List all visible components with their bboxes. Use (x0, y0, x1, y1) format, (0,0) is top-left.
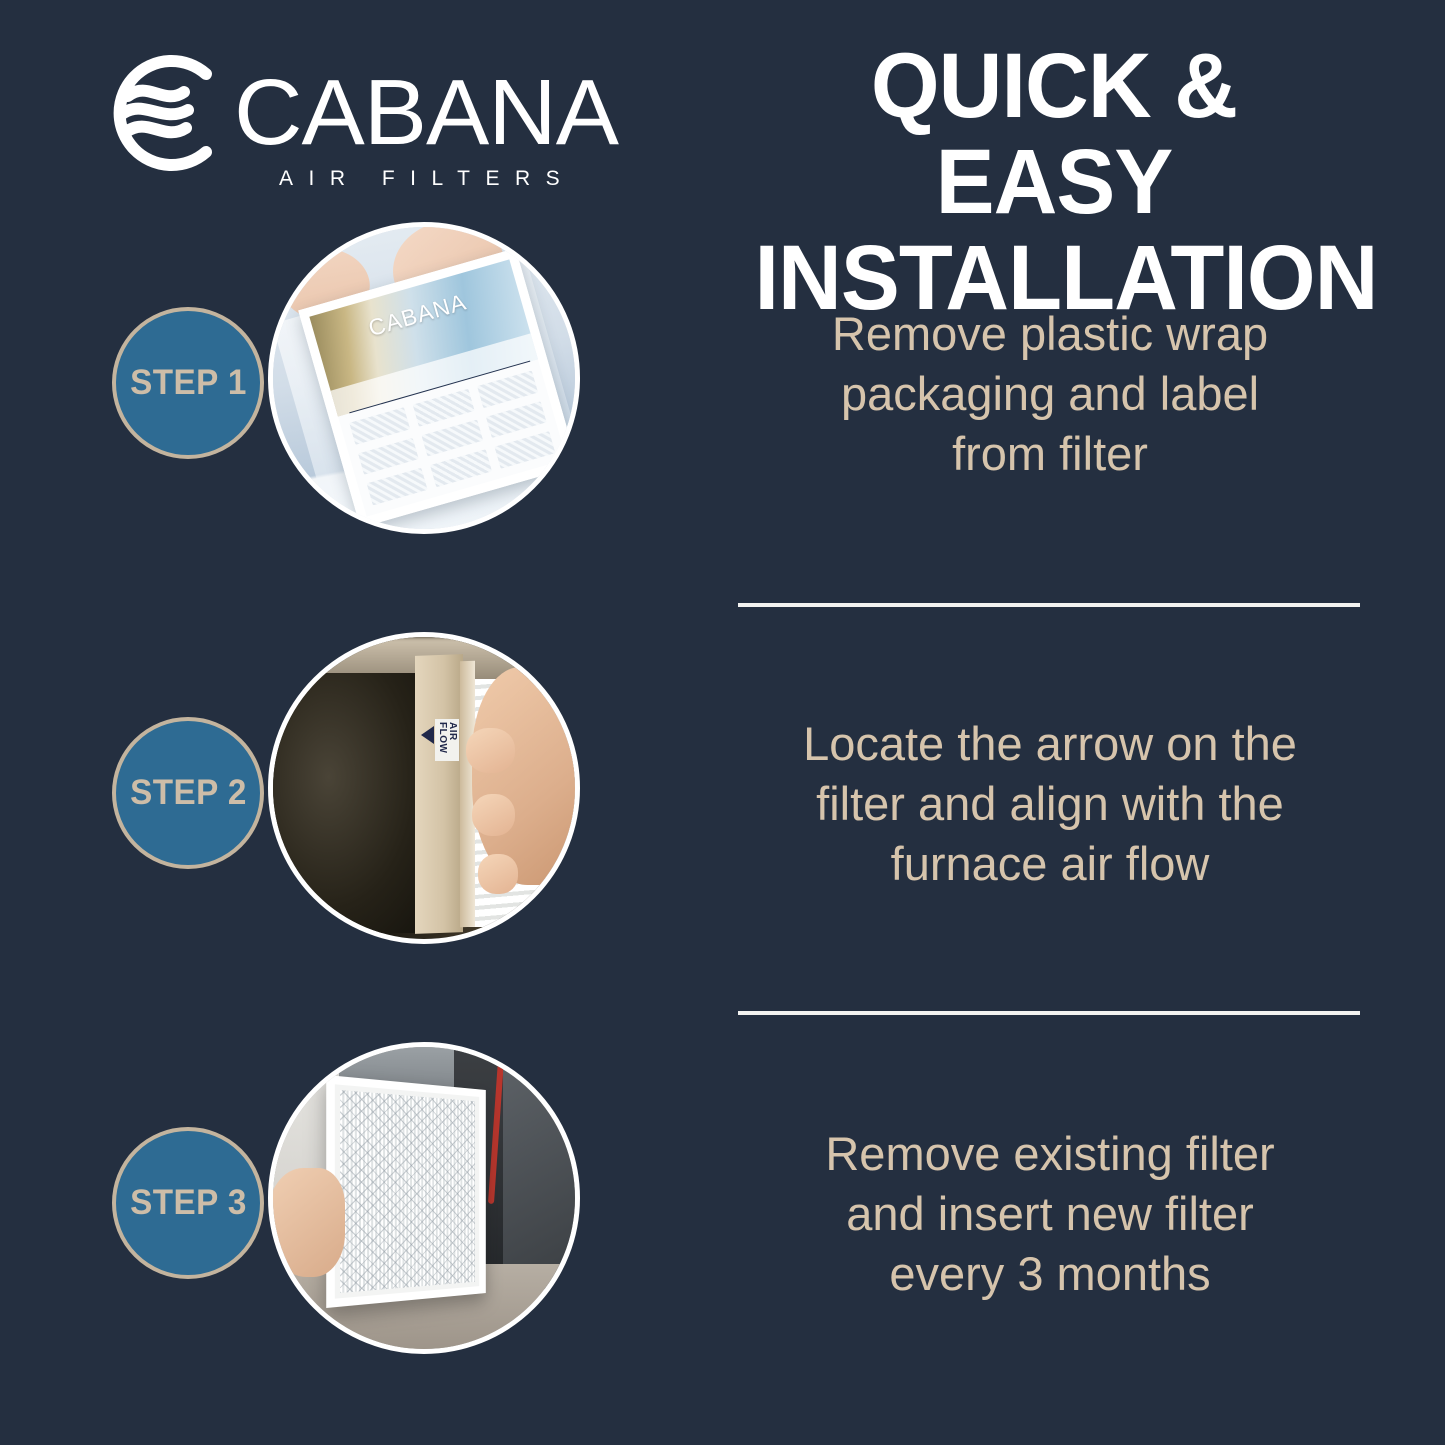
step-badge-1-label: STEP 1 (130, 363, 247, 403)
step-2-description: Locate the arrow on the filter and align… (736, 714, 1364, 894)
step-1-line-1: Remove plastic wrap (736, 304, 1364, 364)
step-3-line-2: and insert new filter (736, 1184, 1364, 1244)
step-1-line-2: packaging and label (736, 364, 1364, 424)
air-flow-arrow-icon: AIR FLOW (421, 719, 460, 761)
step-row-2: AIR FLOW STEP 2 Locate the arrow on the … (0, 620, 1445, 1000)
step-1-photo-remove-plastic-wrap: CABANA MERV 8 | 16 x 20 x 1 (268, 222, 580, 534)
brand-name: CABANA (234, 64, 618, 160)
headline-line-1: QUICK & EASY (871, 35, 1237, 233)
brand-logo: CABANA AIR FILTERS (98, 44, 658, 184)
step-3-description: Remove existing filter and insert new fi… (736, 1124, 1364, 1304)
step-3-line-1: Remove existing filter (736, 1124, 1364, 1184)
step-2-line-3: furnace air flow (736, 834, 1364, 894)
section-divider-2 (738, 1011, 1360, 1015)
air-flow-label-1: AIR (447, 722, 458, 741)
step-3-photo-insert-filter (268, 1042, 580, 1354)
step-badge-2-label: STEP 2 (130, 773, 247, 813)
air-flow-label-2: FLOW (437, 722, 448, 753)
installation-infographic: CABANA AIR FILTERS QUICK & EASY INSTALLA… (0, 0, 1445, 1445)
step-badge-3-label: STEP 3 (130, 1183, 247, 1223)
filter-label-brand: CABANA (365, 288, 469, 342)
step-1-description: Remove plastic wrap packaging and label … (736, 304, 1364, 484)
cabana-wave-circle-icon (102, 50, 228, 176)
step-3-line-3: every 3 months (736, 1244, 1364, 1304)
step-row-1: CABANA MERV 8 | 16 x 20 x 1 STEP 1 Remov… (0, 210, 1445, 590)
step-1-line-3: from filter (736, 424, 1364, 484)
step-2-line-2: filter and align with the (736, 774, 1364, 834)
section-divider-1 (738, 603, 1360, 607)
step-2-photo-air-flow-arrow: AIR FLOW (268, 632, 580, 944)
step-badge-2: STEP 2 (112, 717, 264, 869)
step-row-3: STEP 3 Remove existing filter and insert… (0, 1030, 1445, 1410)
step-badge-1: STEP 1 (112, 307, 264, 459)
step-badge-3: STEP 3 (112, 1127, 264, 1279)
step-2-line-1: Locate the arrow on the (736, 714, 1364, 774)
brand-tagline: AIR FILTERS (279, 167, 575, 191)
